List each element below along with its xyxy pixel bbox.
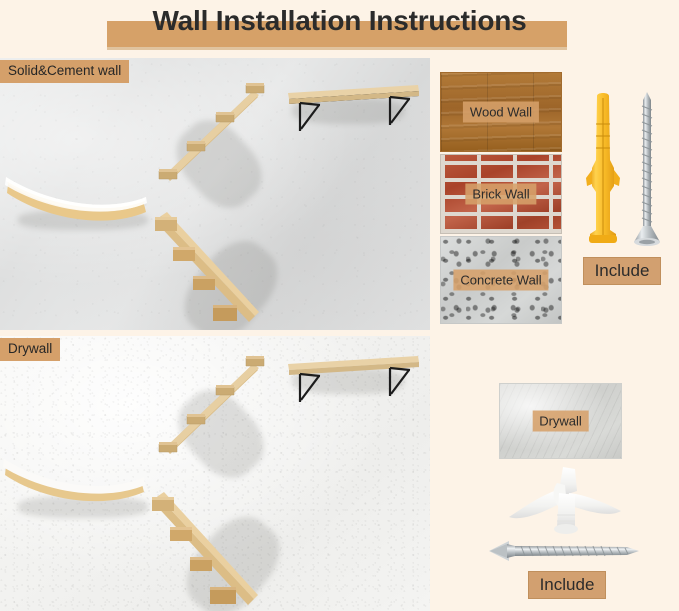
infographic-page: Wall Installation Instructions xyxy=(0,0,679,611)
wall-shelf-with-brackets xyxy=(286,83,421,138)
silver-wood-screw-icon xyxy=(632,92,662,250)
curved-cat-shelf xyxy=(4,176,149,236)
swatch-concrete-wall: Concrete Wall xyxy=(440,236,562,324)
photo-solid-cement-wall xyxy=(0,58,430,330)
cat-climbing-ramp xyxy=(158,83,268,183)
include-label-bottom: Include xyxy=(528,571,606,599)
swatch-label-wood: Wood Wall xyxy=(463,102,539,123)
page-header: Wall Installation Instructions xyxy=(0,0,679,56)
cat-climbing-ramp xyxy=(158,356,268,456)
swatch-drywall: Drywall xyxy=(499,383,622,459)
silver-flat-head-screw-icon xyxy=(487,538,647,564)
swatch-label-concrete: Concrete Wall xyxy=(453,270,548,291)
photo-drywall xyxy=(0,336,430,611)
include-label-top: Include xyxy=(583,257,661,285)
cat-step-stairs xyxy=(155,211,265,326)
curved-cat-shelf xyxy=(2,458,147,518)
white-toggle-anchor-icon xyxy=(505,465,625,537)
cat-step-stairs xyxy=(152,491,267,609)
swatch-wood-wall: Wood Wall xyxy=(440,72,562,152)
tag-solid-cement-wall: Solid&Cement wall xyxy=(0,60,129,83)
yellow-plastic-wall-anchor-icon xyxy=(585,90,621,250)
swatch-brick-wall: Brick Wall xyxy=(440,154,562,234)
swatch-label-brick: Brick Wall xyxy=(465,184,536,205)
swatch-label-drywall: Drywall xyxy=(532,411,589,432)
wall-shelf-with-brackets xyxy=(286,354,421,409)
page-title: Wall Installation Instructions xyxy=(0,4,679,38)
tag-drywall: Drywall xyxy=(0,338,60,361)
